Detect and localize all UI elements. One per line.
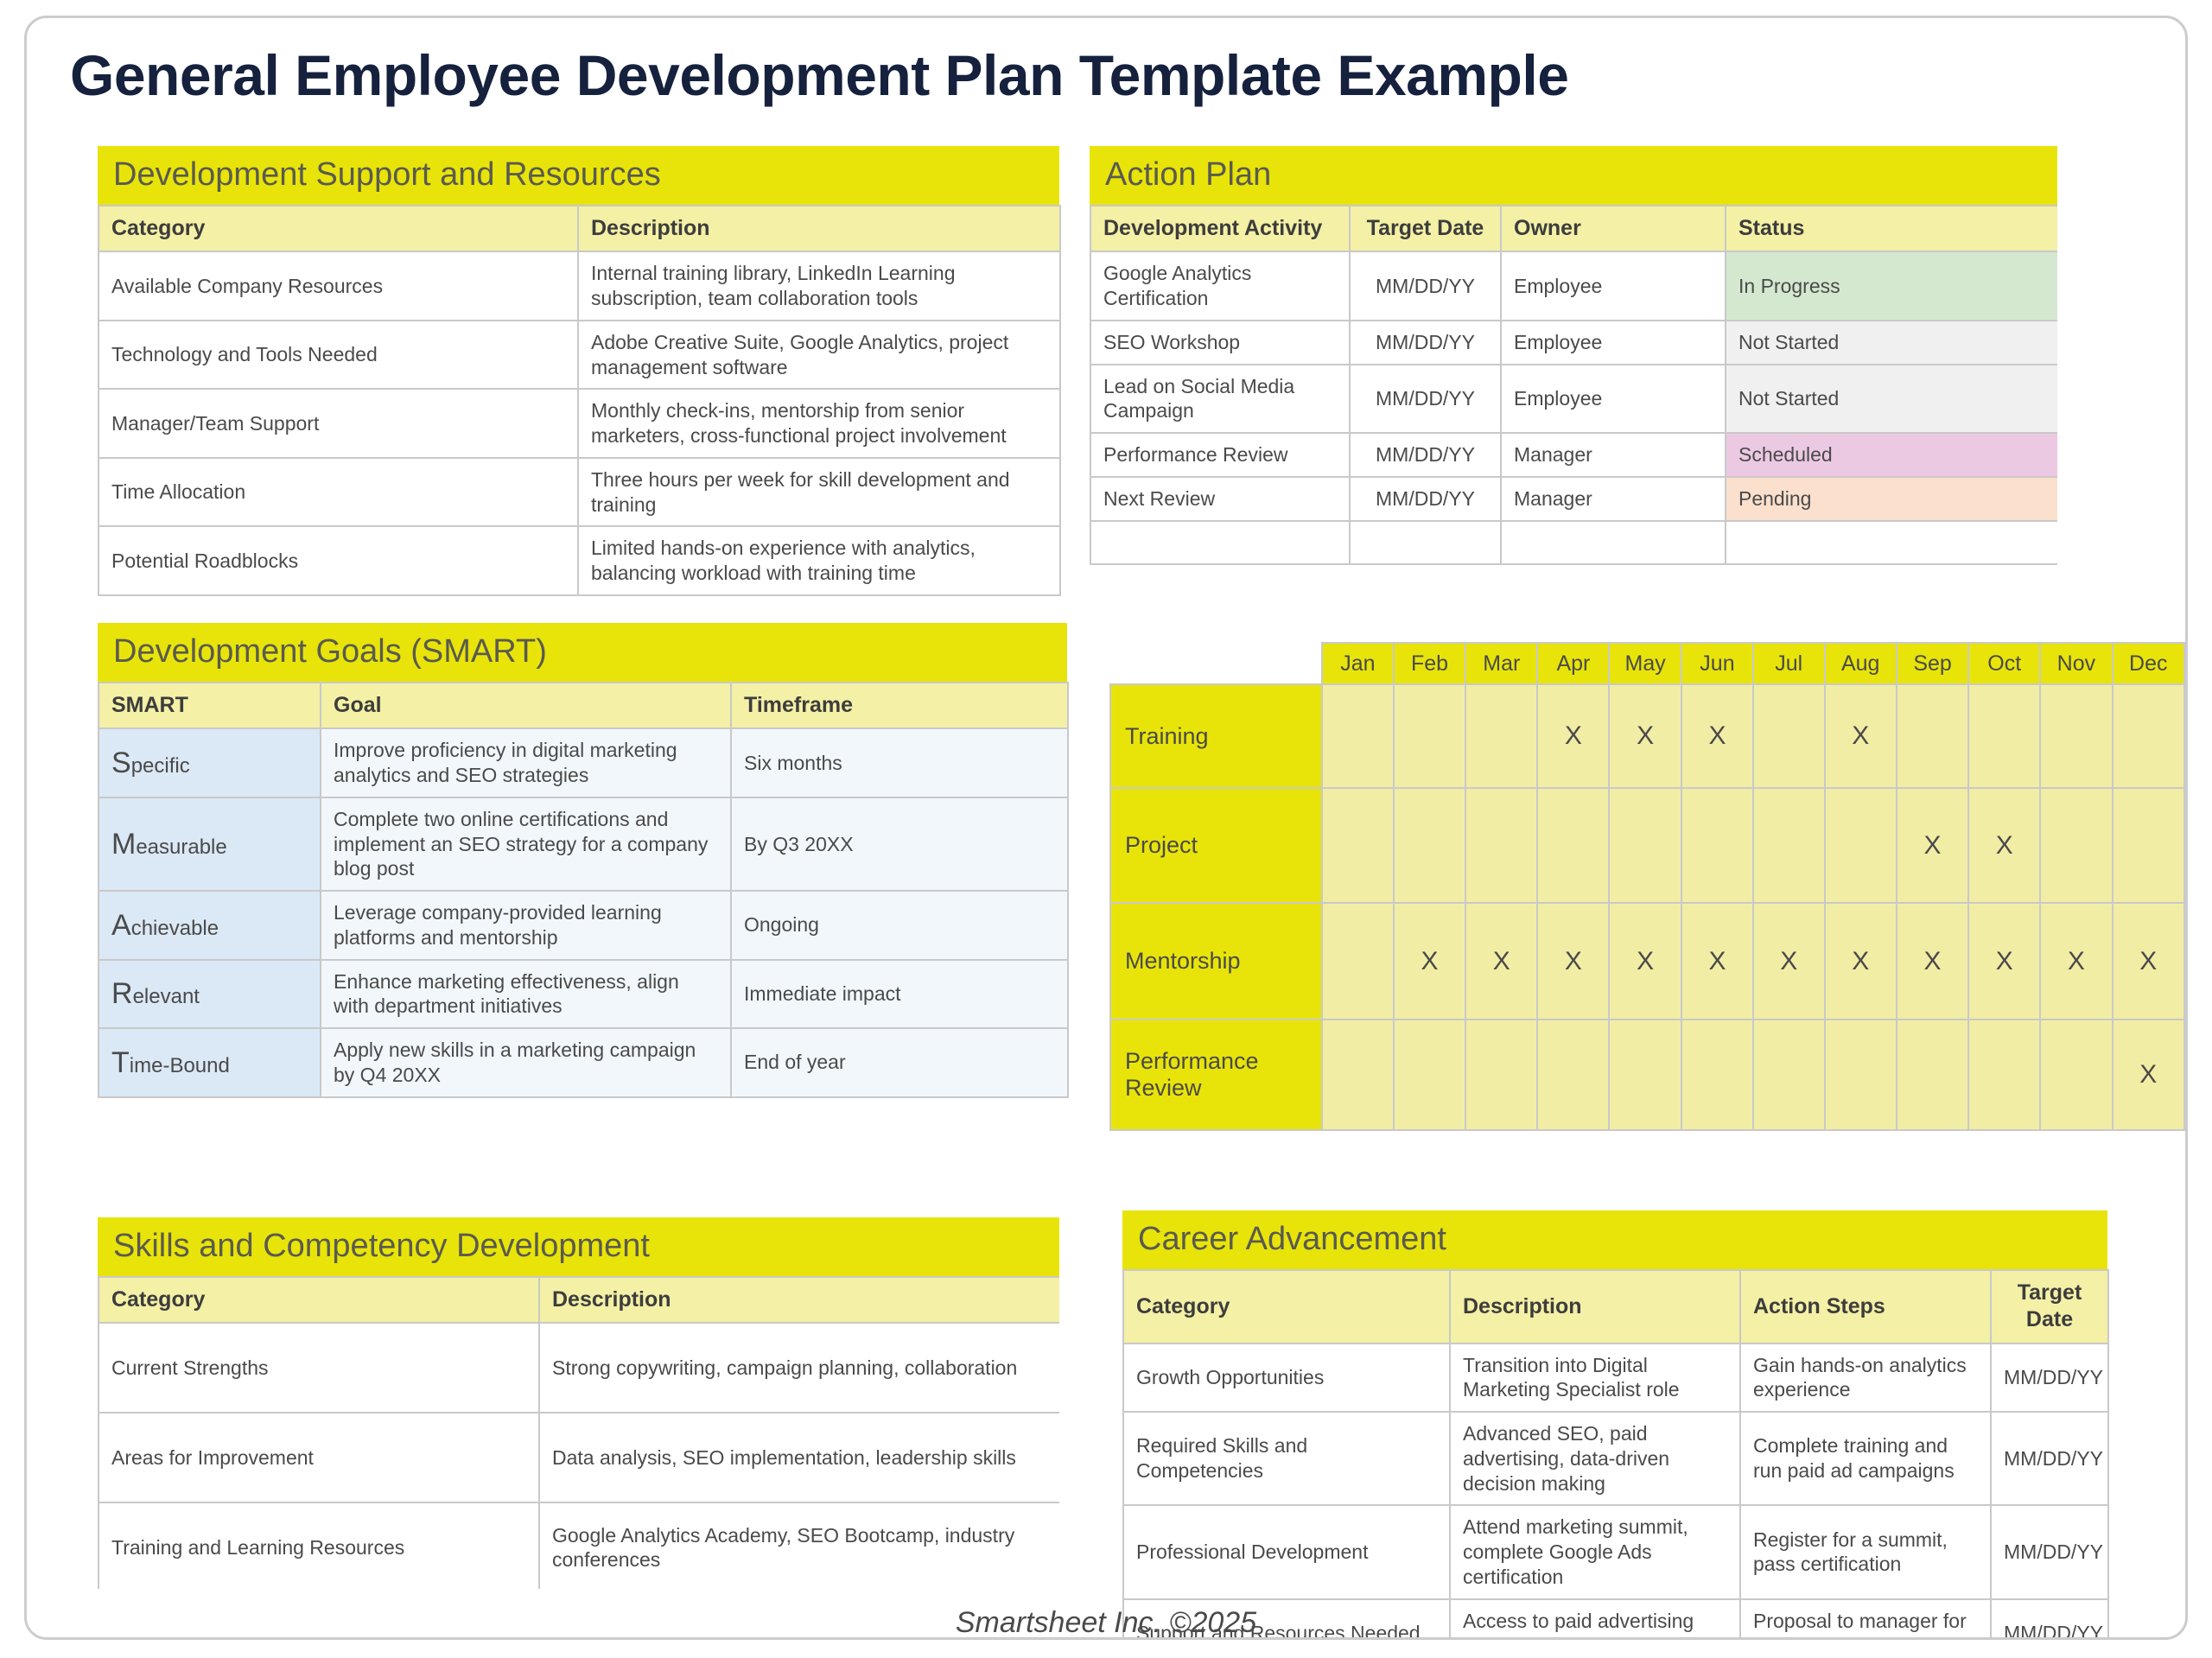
timeline-cell[interactable] bbox=[1897, 1020, 1968, 1130]
timeline-cell[interactable] bbox=[1825, 788, 1897, 903]
column-header-category: Category bbox=[99, 1277, 539, 1323]
cell-description: Strong copywriting, campaign planning, c… bbox=[539, 1323, 1059, 1413]
table-row: Time AllocationThree hours per week for … bbox=[99, 458, 1060, 527]
smart-letter-cell: Time-Bound bbox=[99, 1028, 321, 1097]
cell-timeframe: Ongoing bbox=[731, 891, 1068, 960]
smart-letter-cell: Measurable bbox=[99, 797, 321, 891]
table-row: Relevant Enhance marketing effectiveness… bbox=[99, 960, 1068, 1029]
cell-category: Growth Opportunities bbox=[1123, 1344, 1450, 1413]
cell-target-date: MM/DD/YY bbox=[1350, 477, 1501, 521]
cell-category: Technology and Tools Needed bbox=[99, 321, 578, 390]
smart-rest: ime-Bound bbox=[130, 1054, 230, 1077]
smart-initial: S bbox=[111, 746, 131, 779]
timeline-row-label: Training bbox=[1110, 684, 1322, 788]
cell-owner: Employee bbox=[1501, 365, 1726, 434]
cell-description: Three hours per week for skill developme… bbox=[578, 458, 1060, 527]
column-header-goal: Goal bbox=[321, 683, 731, 728]
cell-category: Areas for Improvement bbox=[99, 1413, 539, 1502]
timeline-row-mentorship: Mentorship X X X X X X X X X X X bbox=[1110, 903, 2184, 1020]
cell-activity bbox=[1090, 521, 1350, 564]
timeline-cell-mark[interactable]: X bbox=[2113, 1020, 2184, 1130]
table-header-row: Development Activity Target Date Owner S… bbox=[1090, 206, 2057, 251]
status-badge bbox=[1726, 521, 2057, 564]
cell-owner: Employee bbox=[1501, 321, 1726, 365]
column-header-category: Category bbox=[99, 206, 578, 251]
timeline-cell-mark[interactable]: X bbox=[1897, 903, 1968, 1020]
month-header-sep: Sep bbox=[1897, 643, 1968, 684]
cell-target-date: MM/DD/YY bbox=[1350, 251, 1501, 321]
cell-target-date: MM/DD/YY bbox=[1350, 433, 1501, 477]
timeline-cell[interactable] bbox=[1609, 788, 1681, 903]
cell-goal: Complete two online certifications and i… bbox=[321, 797, 731, 891]
timeline-cell-mark[interactable]: X bbox=[2113, 903, 2184, 1020]
column-header-owner: Owner bbox=[1501, 206, 1726, 251]
timeline-cell[interactable] bbox=[1609, 1020, 1681, 1130]
status-badge: Scheduled bbox=[1726, 433, 2057, 477]
table-row: Performance Review MM/DD/YY Manager Sche… bbox=[1090, 433, 2057, 477]
smart-rest: easurable bbox=[136, 835, 226, 859]
cell-category: Required Skills and Competencies bbox=[1123, 1412, 1450, 1505]
cell-target-date: MM/DD/YY bbox=[1991, 1412, 2108, 1505]
table-development-goals: SMART Goal Timeframe Specific Improve pr… bbox=[98, 682, 1069, 1098]
smart-rest: elevant bbox=[133, 985, 200, 1008]
column-header-target-date: Target Date bbox=[1991, 1270, 2108, 1344]
smart-rest: pecific bbox=[131, 754, 190, 778]
cell-category: Available Company Resources bbox=[99, 251, 578, 321]
table-row: Training and Learning ResourcesGoogle An… bbox=[99, 1502, 1059, 1589]
table-timeline: Jan Feb Mar Apr May Jun Jul Aug Sep Oct … bbox=[1109, 642, 2185, 1131]
cell-target-date: MM/DD/YY bbox=[1350, 365, 1501, 434]
column-header-description: Description bbox=[539, 1277, 1059, 1323]
cell-goal: Leverage company-provided learning platf… bbox=[321, 891, 731, 960]
timeline-cell[interactable] bbox=[1394, 684, 1465, 788]
smart-initial: R bbox=[111, 977, 133, 1010]
timeline-row-label: Project bbox=[1110, 788, 1322, 903]
cell-goal: Improve proficiency in digital marketing… bbox=[321, 728, 731, 797]
table-row: Growth Opportunities Transition into Dig… bbox=[1123, 1344, 2108, 1413]
month-header-jul: Jul bbox=[1753, 643, 1825, 684]
cell-activity: Google Analytics Certification bbox=[1090, 251, 1350, 321]
cell-target-date: MM/DD/YY bbox=[1991, 1505, 2108, 1598]
status-badge: Not Started bbox=[1726, 365, 2057, 434]
timeline-cell-mark[interactable]: X bbox=[1609, 684, 1681, 788]
table-row: Measurable Complete two online certifica… bbox=[99, 797, 1068, 891]
timeline-cell[interactable] bbox=[1753, 684, 1825, 788]
timeline-cell-mark[interactable]: X bbox=[1825, 903, 1897, 1020]
column-header-target-date: Target Date bbox=[1350, 206, 1501, 251]
section-skills-competency: Skills and Competency Development Catego… bbox=[98, 1217, 1059, 1589]
month-header-dec: Dec bbox=[2113, 643, 2184, 684]
table-row: Required Skills and Competencies Advance… bbox=[1123, 1412, 2108, 1505]
cell-owner bbox=[1501, 521, 1726, 564]
cell-goal: Enhance marketing effectiveness, align w… bbox=[321, 960, 731, 1029]
section-development-support-and-resources: Development Support and Resources Catego… bbox=[98, 146, 1059, 596]
cell-description: Advanced SEO, paid advertising, data-dri… bbox=[1450, 1412, 1740, 1505]
smart-rest: chievable bbox=[131, 917, 219, 940]
table-header-row: Category Description bbox=[99, 1277, 1059, 1323]
timeline-cell[interactable] bbox=[1825, 1020, 1897, 1130]
month-header-may: May bbox=[1609, 643, 1681, 684]
timeline-cell[interactable] bbox=[1753, 788, 1825, 903]
timeline-cell-mark[interactable]: X bbox=[1609, 903, 1681, 1020]
table-skills-competency: Category Description Current StrengthsSt… bbox=[98, 1276, 1059, 1589]
cell-description: Transition into Digital Marketing Specia… bbox=[1450, 1344, 1740, 1413]
table-row: Lead on Social Media Campaign MM/DD/YY E… bbox=[1090, 365, 2057, 434]
timeline-cell[interactable] bbox=[1681, 788, 1753, 903]
column-header-status: Status bbox=[1726, 206, 2057, 251]
table-action-plan: Development Activity Target Date Owner S… bbox=[1090, 205, 2057, 565]
month-header-oct: Oct bbox=[1968, 643, 2040, 684]
timeline-cell[interactable] bbox=[1465, 788, 1537, 903]
cell-description: Attend marketing summit, complete Google… bbox=[1450, 1505, 1740, 1598]
cell-owner: Manager bbox=[1501, 477, 1726, 521]
table-header-row: SMART Goal Timeframe bbox=[99, 683, 1068, 728]
cell-target-date: MM/DD/YY bbox=[1991, 1344, 2108, 1413]
smart-letter-cell: Specific bbox=[99, 728, 321, 797]
timeline-cell-mark[interactable]: X bbox=[1897, 788, 1968, 903]
table-row: Achievable Leverage company-provided lea… bbox=[99, 891, 1068, 960]
table-support-resources: Category Description Available Company R… bbox=[98, 205, 1061, 596]
document-page: General Employee Development Plan Templa… bbox=[24, 16, 2188, 1640]
table-row: Next Review MM/DD/YY Manager Pending bbox=[1090, 477, 2057, 521]
timeline-row-training: Training X X X X bbox=[1110, 684, 2184, 788]
table-career-advancement: Category Description Action Steps Target… bbox=[1122, 1269, 2109, 1640]
cell-action-steps: Gain hands-on analytics experience bbox=[1740, 1344, 1991, 1413]
month-header-apr: Apr bbox=[1537, 643, 1609, 684]
cell-timeframe: Six months bbox=[731, 728, 1068, 797]
timeline-corner-cell bbox=[1110, 643, 1322, 684]
timeline-cell-mark[interactable]: X bbox=[1681, 684, 1753, 788]
footer-copyright: Smartsheet Inc. ©2025 bbox=[27, 1606, 2185, 1640]
column-header-description: Description bbox=[1450, 1270, 1740, 1344]
table-row: Technology and Tools NeededAdobe Creativ… bbox=[99, 321, 1060, 390]
month-header-feb: Feb bbox=[1394, 643, 1465, 684]
timeline-cell-mark[interactable]: X bbox=[2040, 903, 2112, 1020]
cell-activity: Lead on Social Media Campaign bbox=[1090, 365, 1350, 434]
cell-category: Professional Development bbox=[1123, 1505, 1450, 1598]
timeline-cell[interactable] bbox=[1968, 684, 2040, 788]
cell-description: Data analysis, SEO implementation, leade… bbox=[539, 1413, 1059, 1502]
section-header-action-plan: Action Plan bbox=[1090, 146, 2057, 205]
cell-description: Internal training library, LinkedIn Lear… bbox=[578, 251, 1060, 321]
timeline-cell-mark[interactable]: X bbox=[1681, 903, 1753, 1020]
smart-letter-cell: Achievable bbox=[99, 891, 321, 960]
timeline-cell-mark[interactable]: X bbox=[1394, 903, 1465, 1020]
timeline-row-label: Performance Review bbox=[1110, 1020, 1322, 1130]
timeline-cell[interactable] bbox=[1681, 1020, 1753, 1130]
cell-description: Monthly check-ins, mentorship from senio… bbox=[578, 389, 1060, 458]
section-action-plan: Action Plan Development Activity Target … bbox=[1090, 146, 2057, 578]
timeline-cell-mark[interactable]: X bbox=[1968, 903, 2040, 1020]
table-row: Areas for ImprovementData analysis, SEO … bbox=[99, 1413, 1059, 1502]
section-development-goals: Development Goals (SMART) SMART Goal Tim… bbox=[98, 623, 1067, 1098]
timeline-cell-mark[interactable]: X bbox=[1537, 903, 1609, 1020]
section-header-development-goals: Development Goals (SMART) bbox=[98, 623, 1067, 682]
status-badge: Not Started bbox=[1726, 321, 2057, 365]
timeline-cell[interactable] bbox=[2040, 684, 2112, 788]
table-header-row: Category Description bbox=[99, 206, 1060, 251]
status-badge: In Progress bbox=[1726, 251, 2057, 321]
cell-activity: Next Review bbox=[1090, 477, 1350, 521]
timeline-month-header-row: Jan Feb Mar Apr May Jun Jul Aug Sep Oct … bbox=[1110, 643, 2184, 684]
table-row: Potential RoadblocksLimited hands-on exp… bbox=[99, 526, 1060, 595]
cell-category: Potential Roadblocks bbox=[99, 526, 578, 595]
cell-description: Google Analytics Academy, SEO Bootcamp, … bbox=[539, 1502, 1059, 1589]
cell-owner: Employee bbox=[1501, 251, 1726, 321]
timeline-row-project: Project X X bbox=[1110, 788, 2184, 903]
cell-description: Limited hands-on experience with analyti… bbox=[578, 526, 1060, 595]
timeline-cell[interactable] bbox=[2113, 788, 2184, 903]
timeline-cell-mark[interactable]: X bbox=[1968, 788, 2040, 903]
column-header-action-steps: Action Steps bbox=[1740, 1270, 1991, 1344]
timeline-cell[interactable] bbox=[1537, 788, 1609, 903]
section-header-support-resources: Development Support and Resources bbox=[98, 146, 1059, 205]
column-header-smart: SMART bbox=[99, 683, 321, 728]
cell-activity: SEO Workshop bbox=[1090, 321, 1350, 365]
timeline-cell[interactable] bbox=[1322, 1020, 1394, 1130]
cell-target-date: MM/DD/YY bbox=[1350, 321, 1501, 365]
section-header-skills-competency: Skills and Competency Development bbox=[98, 1217, 1059, 1276]
cell-timeframe: By Q3 20XX bbox=[731, 797, 1068, 891]
table-row: Time-Bound Apply new skills in a marketi… bbox=[99, 1028, 1068, 1097]
timeline-cell[interactable] bbox=[1465, 684, 1537, 788]
cell-owner: Manager bbox=[1501, 433, 1726, 477]
smart-initial: A bbox=[111, 909, 131, 942]
timeline-cell-mark[interactable]: X bbox=[1825, 684, 1897, 788]
timeline-cell-mark[interactable]: X bbox=[1537, 684, 1609, 788]
month-header-mar: Mar bbox=[1465, 643, 1537, 684]
smart-letter-cell: Relevant bbox=[99, 960, 321, 1029]
timeline-cell[interactable] bbox=[1968, 1020, 2040, 1130]
section-header-career-advancement: Career Advancement bbox=[1122, 1210, 2107, 1269]
cell-target-date bbox=[1350, 521, 1501, 564]
section-career-advancement: Career Advancement Category Description … bbox=[1122, 1210, 2107, 1640]
timeline-cell[interactable] bbox=[1537, 1020, 1609, 1130]
timeline-grid: Jan Feb Mar Apr May Jun Jul Aug Sep Oct … bbox=[1109, 642, 2185, 1131]
timeline-cell[interactable] bbox=[2040, 788, 2112, 903]
column-header-timeframe: Timeframe bbox=[731, 683, 1068, 728]
timeline-cell[interactable] bbox=[2040, 1020, 2112, 1130]
timeline-cell[interactable] bbox=[1394, 1020, 1465, 1130]
table-row: Current StrengthsStrong copywriting, cam… bbox=[99, 1323, 1059, 1413]
cell-category: Training and Learning Resources bbox=[99, 1502, 539, 1589]
timeline-cell[interactable] bbox=[1897, 684, 1968, 788]
timeline-cell[interactable] bbox=[2113, 684, 2184, 788]
timeline-cell[interactable] bbox=[1753, 1020, 1825, 1130]
timeline-cell-mark[interactable]: X bbox=[1465, 903, 1537, 1020]
timeline-cell[interactable] bbox=[1322, 684, 1394, 788]
cell-category: Time Allocation bbox=[99, 458, 578, 527]
timeline-cell[interactable] bbox=[1465, 1020, 1537, 1130]
table-row: Specific Improve proficiency in digital … bbox=[99, 728, 1068, 797]
timeline-cell[interactable] bbox=[1322, 903, 1394, 1020]
timeline-cell[interactable] bbox=[1322, 788, 1394, 903]
cell-action-steps: Complete training and run paid ad campai… bbox=[1740, 1412, 1991, 1505]
month-header-nov: Nov bbox=[2040, 643, 2112, 684]
month-header-jun: Jun bbox=[1681, 643, 1753, 684]
table-row: Manager/Team SupportMonthly check-ins, m… bbox=[99, 389, 1060, 458]
cell-category: Manager/Team Support bbox=[99, 389, 578, 458]
page-title: General Employee Development Plan Templa… bbox=[70, 42, 1568, 108]
month-header-jan: Jan bbox=[1322, 643, 1394, 684]
cell-timeframe: End of year bbox=[731, 1028, 1068, 1097]
table-row: Google Analytics Certification MM/DD/YY … bbox=[1090, 251, 2057, 321]
cell-action-steps: Register for a summit, pass certificatio… bbox=[1740, 1505, 1991, 1598]
cell-category: Current Strengths bbox=[99, 1323, 539, 1413]
timeline-row-label: Mentorship bbox=[1110, 903, 1322, 1020]
table-row bbox=[1090, 521, 2057, 564]
month-header-aug: Aug bbox=[1825, 643, 1897, 684]
timeline-cell[interactable] bbox=[1394, 788, 1465, 903]
table-header-row: Category Description Action Steps Target… bbox=[1123, 1270, 2108, 1344]
table-row: Professional Development Attend marketin… bbox=[1123, 1505, 2108, 1598]
status-badge: Pending bbox=[1726, 477, 2057, 521]
timeline-cell-mark[interactable]: X bbox=[1753, 903, 1825, 1020]
column-header-description: Description bbox=[578, 206, 1060, 251]
table-row: Available Company ResourcesInternal trai… bbox=[99, 251, 1060, 321]
timeline-row-performance-review: Performance Review X bbox=[1110, 1020, 2184, 1130]
cell-activity: Performance Review bbox=[1090, 433, 1350, 477]
cell-description: Adobe Creative Suite, Google Analytics, … bbox=[578, 321, 1060, 390]
column-header-category: Category bbox=[1123, 1270, 1450, 1344]
table-row: SEO Workshop MM/DD/YY Employee Not Start… bbox=[1090, 321, 2057, 365]
cell-timeframe: Immediate impact bbox=[731, 960, 1068, 1029]
cell-goal: Apply new skills in a marketing campaign… bbox=[321, 1028, 731, 1097]
smart-initial: M bbox=[111, 828, 136, 861]
smart-initial: T bbox=[111, 1046, 130, 1079]
column-header-development-activity: Development Activity bbox=[1090, 206, 1350, 251]
